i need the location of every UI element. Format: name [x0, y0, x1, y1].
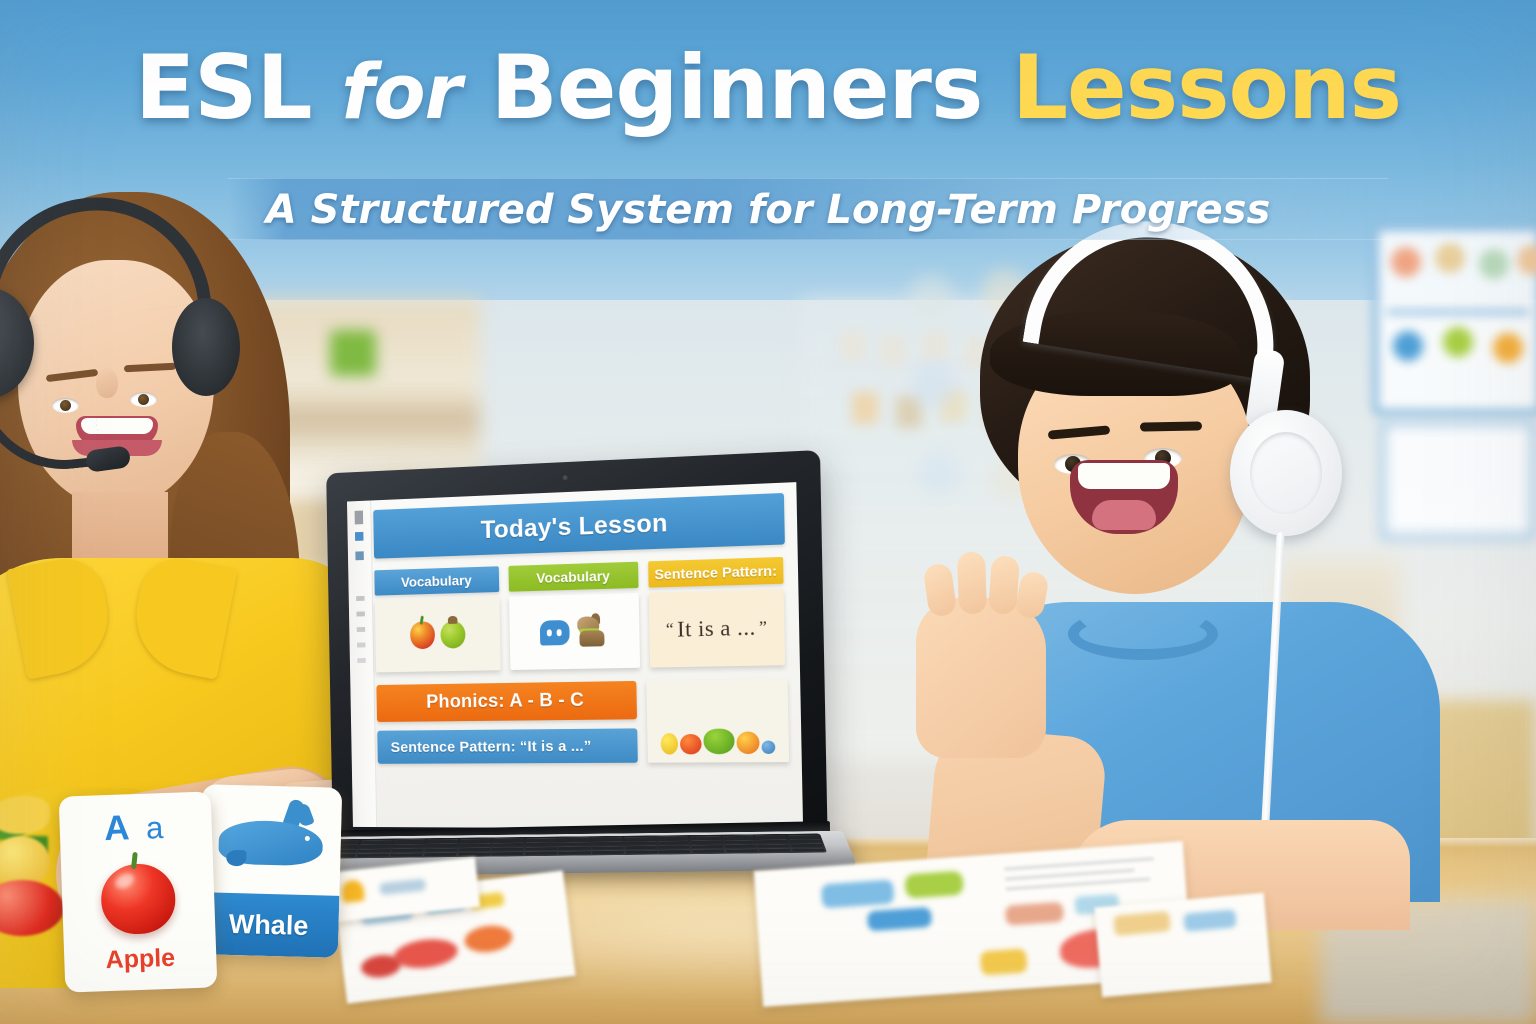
toy-fruit-orange	[736, 731, 759, 754]
dog-icon	[575, 616, 608, 647]
toy-fruits-image	[646, 679, 789, 763]
speech-bubble-icon	[540, 619, 570, 645]
raised-hand-icon	[916, 598, 1046, 758]
flashcard-whale-word: Whale	[198, 892, 340, 958]
page-subtitle: A Structured System for Long-Term Progre…	[0, 180, 1536, 240]
slide-thumb-icon[interactable]	[355, 532, 364, 541]
student-tongue	[1092, 500, 1156, 530]
vocabulary-card-1[interactable]: Vocabulary	[374, 566, 500, 672]
flashcard-whale-image	[199, 784, 342, 898]
flashcard-apple-letters: A a	[59, 805, 212, 850]
slide-thumb-icon[interactable]	[355, 551, 364, 560]
title-for: for	[341, 47, 461, 136]
teacher-nose	[96, 368, 118, 398]
toy-fruit-red	[680, 734, 702, 755]
laptop-screen[interactable]: Today's Lesson Vocabulary Vocabulary	[347, 482, 803, 829]
student-finger-2	[957, 552, 987, 615]
letter-lowercase-a: a	[145, 810, 167, 846]
slide-dot-icon[interactable]	[357, 642, 365, 647]
slide-thumb-icon[interactable]	[355, 511, 364, 525]
vocabulary-card-1-image	[375, 597, 501, 672]
laptop-keyboard[interactable]	[320, 834, 827, 859]
title-lessons: Lessons	[1012, 36, 1401, 139]
slide-dot-icon[interactable]	[357, 627, 365, 632]
sentence-pattern-card-label: Sentence Pattern:	[648, 557, 783, 588]
teacher-eye-right	[130, 392, 157, 407]
vocabulary-card-2[interactable]: Vocabulary	[508, 562, 640, 670]
slide-dot-icon[interactable]	[356, 596, 364, 601]
student-eyebrow-right	[1140, 421, 1202, 431]
toy-fruit-blue	[761, 741, 775, 754]
vocabulary-card-2-label: Vocabulary	[508, 562, 638, 592]
student-finger-1	[923, 562, 958, 617]
slide-content: Today's Lesson Vocabulary Vocabulary	[373, 493, 790, 821]
letter-uppercase-a: A	[104, 808, 133, 848]
toy-fruit-green	[703, 729, 734, 755]
flashcard-apple[interactable]: A a Apple	[59, 791, 218, 992]
slide-dot-icon[interactable]	[356, 611, 364, 616]
presentation-sidebar[interactable]	[347, 500, 377, 827]
blue-whale-icon	[218, 810, 324, 873]
phonics-bar: Phonics: A - B - C	[376, 681, 637, 722]
vocabulary-card-2-image	[509, 593, 640, 670]
laptop-device[interactable]: Today's Lesson Vocabulary Vocabulary	[318, 462, 830, 882]
sentence-pattern-bar: Sentence Pattern: “It is a ...”	[377, 728, 638, 763]
student-teeth	[1078, 463, 1170, 489]
vocabulary-card-1-label: Vocabulary	[374, 566, 499, 595]
quote-open-mark: “	[666, 619, 675, 639]
teacher-eyebrow-right	[124, 363, 176, 373]
apple-icon	[410, 621, 435, 649]
student-tshirt-collar	[1068, 608, 1218, 660]
green-fruit-icon	[440, 621, 465, 649]
laptop-webcam-icon	[562, 474, 569, 481]
slide-dot-icon[interactable]	[357, 658, 365, 663]
quote-close-mark: ”	[759, 617, 768, 638]
quote-text: It is a ...	[677, 614, 756, 642]
slide-bottom-row: Phonics: A - B - C Sentence Pattern: “It…	[376, 679, 789, 764]
title-esl: ESL	[135, 36, 312, 139]
title-beginners: Beginners	[491, 36, 983, 139]
vocabulary-cards-row: Vocabulary Vocabulary	[374, 557, 787, 673]
sentence-pattern-card[interactable]: Sentence Pattern: “ It is a ... ”	[648, 557, 785, 668]
laptop-lid: Today's Lesson Vocabulary Vocabulary	[326, 450, 828, 854]
toy-fruit-yellow	[661, 733, 679, 754]
slide-bottom-left: Phonics: A - B - C Sentence Pattern: “It…	[376, 681, 637, 764]
sentence-pattern-quote: “ It is a ... ”	[649, 589, 785, 668]
poster-canvas: Today's Lesson Vocabulary Vocabulary	[0, 0, 1536, 1024]
banana-icon	[0, 796, 50, 834]
slide-title-bar: Today's Lesson	[373, 493, 785, 559]
student-eyebrow-left	[1048, 425, 1111, 439]
student-finger-3	[988, 555, 1020, 615]
flashcard-whale[interactable]: Whale	[198, 784, 342, 958]
boy-with-headphones	[920, 232, 1460, 892]
flashcard-apple-word: Apple	[64, 942, 217, 976]
tomato-icon	[0, 880, 64, 936]
headphones-earcup-icon	[1230, 410, 1342, 536]
headset-earcup-right-icon	[172, 298, 240, 396]
red-apple-icon	[100, 863, 176, 936]
page-title: ESL for Beginners Lessons	[0, 44, 1536, 132]
worksheet-far-right	[1094, 893, 1271, 997]
